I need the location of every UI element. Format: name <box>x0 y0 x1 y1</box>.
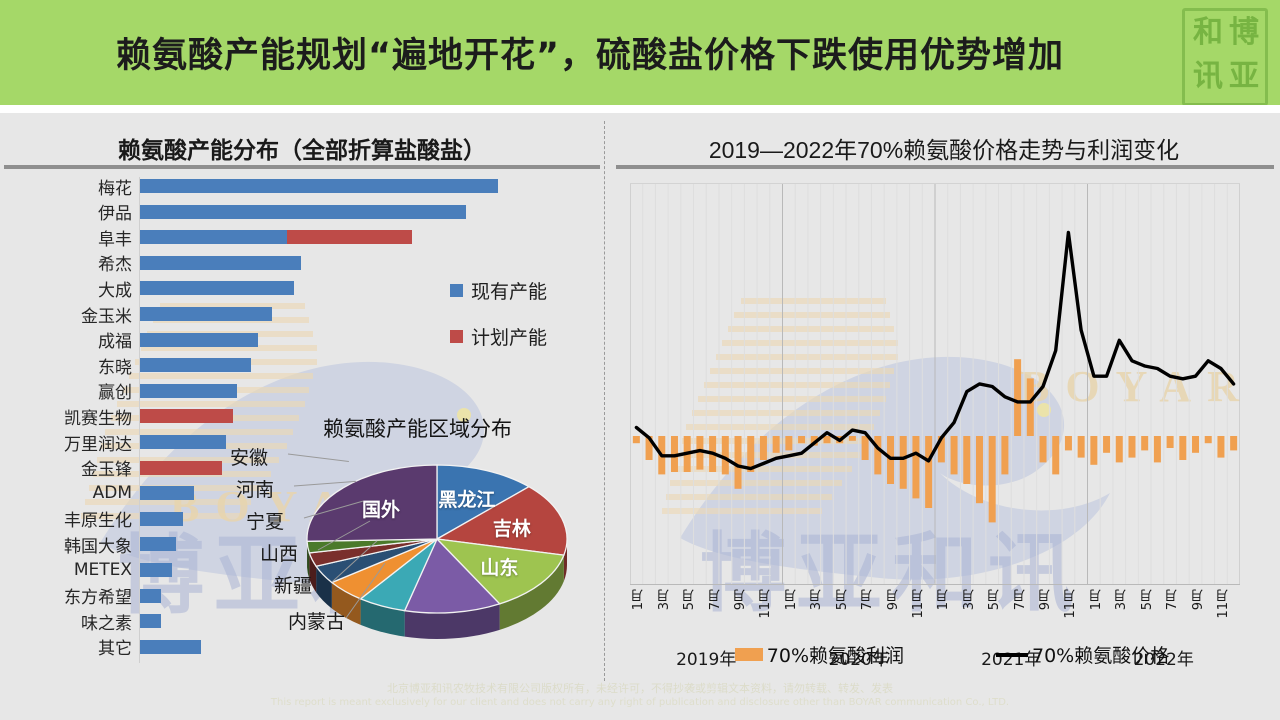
profit-bar[interactable] <box>1128 436 1135 458</box>
bar-category-label: 阜丰 <box>0 224 132 250</box>
bar-category-label: 其它 <box>0 634 132 660</box>
pie-slice-label: 吉林 <box>493 514 531 541</box>
bar-category-label: 东方希望 <box>0 583 132 609</box>
price-profit-graphic <box>630 184 1240 584</box>
x-month-tick: 7月 <box>1011 589 1030 610</box>
profit-bar[interactable] <box>1192 436 1199 453</box>
x-month-tick: 11月 <box>1214 589 1233 619</box>
bar-segment-existing <box>140 358 251 372</box>
bar-category-label: 希杰 <box>0 250 132 276</box>
x-month-tick: 11月 <box>1061 589 1080 619</box>
profit-bar[interactable] <box>1103 436 1110 453</box>
x-month-tick: 5月 <box>833 589 852 610</box>
profit-bar[interactable] <box>823 436 830 443</box>
pie-callout-label: 山西 <box>260 539 298 566</box>
pie-slice-label: 山东 <box>480 553 518 580</box>
x-month-tick: 9月 <box>884 589 903 610</box>
x-month-tick: 9月 <box>1036 589 1055 610</box>
legend-swatch-line <box>996 653 1028 657</box>
page-title: 赖氨酸产能规划“遍地开花”，硫酸盐价格下跌使用优势增加 <box>0 0 1180 105</box>
bar-category-label: 万里润达 <box>0 429 132 455</box>
copyright-footer: 北京博亚和讯农牧技术有限公司版权所有，未经许可，不得抄袭或剪辑文本资料，请勿转载… <box>0 682 1280 710</box>
bar-segment-existing <box>140 307 272 321</box>
legend-item: 70%赖氨酸价格 <box>996 641 1169 668</box>
bar-track <box>140 384 498 398</box>
line-chart-legend: 70%赖氨酸利润70%赖氨酸价格 <box>652 641 1252 668</box>
bar-segment-planned <box>140 461 222 475</box>
bar-track <box>140 256 498 270</box>
profit-bar[interactable] <box>900 436 907 489</box>
profit-bar[interactable] <box>1179 436 1186 460</box>
legend-item: 现有产能 <box>450 277 547 304</box>
bar-segment-existing <box>140 435 226 449</box>
bar-segment-existing <box>140 537 176 551</box>
bar-category-label: 丰原生化 <box>0 506 132 532</box>
pie-callout-label: 安徽 <box>230 443 268 470</box>
bar-category-label: 味之素 <box>0 608 132 634</box>
seal-char-1: 和 <box>1189 11 1225 55</box>
profit-bar[interactable] <box>1090 436 1097 465</box>
profit-bar[interactable] <box>798 436 805 443</box>
pie-slice-label: 黑龙江 <box>438 485 495 512</box>
legend-item: 计划产能 <box>450 323 547 350</box>
bar-segment-existing <box>140 179 498 193</box>
x-month-tick: 7月 <box>858 589 877 610</box>
pie-callout-label: 新疆 <box>274 571 312 598</box>
bar-category-label: 伊品 <box>0 199 132 225</box>
bar-segment-planned <box>287 230 412 244</box>
copyright-cn: 北京博亚和讯农牧技术有限公司版权所有，未经许可，不得抄袭或剪辑文本资料，请勿转载… <box>0 682 1280 696</box>
right-panel-rule <box>616 165 1274 169</box>
legend-label: 现有产能 <box>471 277 547 304</box>
bar-track <box>140 205 498 219</box>
profit-bar[interactable] <box>963 436 970 484</box>
legend-swatch <box>450 284 463 297</box>
bar-category-label: 凯赛生物 <box>0 403 132 429</box>
x-month-tick: 1月 <box>629 589 648 610</box>
bar-segment-existing <box>140 256 301 270</box>
profit-bar[interactable] <box>849 436 856 441</box>
bar-segment-existing <box>140 333 258 347</box>
profit-bar[interactable] <box>951 436 958 474</box>
bar-category-label: METEX <box>0 557 132 583</box>
slide-body: 博亚和讯 BOYAR 博亚和讯 BOYAR 赖氨酸产能分布（全部折算盐酸盐） 2… <box>0 113 1280 720</box>
pie-callout-label: 宁夏 <box>246 507 284 534</box>
x-month-tick: 9月 <box>731 589 750 610</box>
region-pie-chart: 赖氨酸产能区域分布 黑龙江吉林山东国外安徽河南宁夏山西新疆内蒙古 <box>230 413 605 683</box>
bar-segment-existing <box>140 486 194 500</box>
profit-bar[interactable] <box>1230 436 1237 450</box>
bar-category-label: 梅花 <box>0 173 132 199</box>
header-band: 赖氨酸产能规划“遍地开花”，硫酸盐价格下跌使用优势增加 和博讯亚 <box>0 0 1280 105</box>
legend-label: 70%赖氨酸价格 <box>1032 641 1169 668</box>
seal-char-2: 博 <box>1225 11 1261 55</box>
seal-char-3: 讯 <box>1189 55 1225 99</box>
bar-segment-existing <box>140 205 466 219</box>
profit-bar[interactable] <box>1014 359 1021 436</box>
profit-bar[interactable] <box>1078 436 1085 458</box>
bar-category-label: 东晓 <box>0 352 132 378</box>
profit-bar[interactable] <box>1027 378 1034 436</box>
bar-track <box>140 179 498 193</box>
x-month-tick: 11月 <box>909 589 928 619</box>
x-month-tick: 7月 <box>1163 589 1182 610</box>
bar-row: 梅花 <box>0 173 604 199</box>
profit-bar[interactable] <box>1116 436 1123 462</box>
legend-item: 70%赖氨酸利润 <box>735 641 904 668</box>
x-month-tick: 3月 <box>1112 589 1131 610</box>
price-profit-plot <box>630 183 1240 585</box>
bar-row: 赢创 <box>0 378 604 404</box>
x-month-tick: 5月 <box>1138 589 1157 610</box>
profit-bar[interactable] <box>735 436 742 489</box>
pie-callout-label: 内蒙古 <box>288 607 345 634</box>
profit-bar[interactable] <box>633 436 640 443</box>
bar-segment-existing <box>140 230 287 244</box>
left-panel-title: 赖氨酸产能分布（全部折算盐酸盐） <box>0 131 604 165</box>
profit-bar[interactable] <box>722 436 729 474</box>
right-panel-title: 2019—2022年70%赖氨酸价格走势与利润变化 <box>612 131 1276 165</box>
profit-bar[interactable] <box>912 436 919 498</box>
pie-graphic <box>272 439 602 669</box>
profit-bar[interactable] <box>976 436 983 503</box>
bar-category-label: 韩国大象 <box>0 531 132 557</box>
profit-bar[interactable] <box>1217 436 1224 458</box>
bar-track <box>140 230 498 244</box>
left-panel-rule <box>4 165 600 169</box>
bar-segment-existing <box>140 640 201 654</box>
profit-bar[interactable] <box>1001 436 1008 474</box>
bar-segment-existing <box>140 614 161 628</box>
profit-bar[interactable] <box>1052 436 1059 474</box>
copyright-en: This report is meant exclusively for our… <box>0 696 1280 710</box>
bar-category-label: 大成 <box>0 275 132 301</box>
seal-char-4: 亚 <box>1225 55 1261 99</box>
bar-segment-existing <box>140 281 294 295</box>
x-month-tick: 1月 <box>1087 589 1106 610</box>
bar-chart-legend: 现有产能计划产能 <box>450 277 547 369</box>
bar-row: 伊品 <box>0 199 604 225</box>
x-month-tick: 5月 <box>680 589 699 610</box>
x-month-tick: 5月 <box>985 589 1004 610</box>
bar-segment-existing <box>140 512 183 526</box>
profit-bar[interactable] <box>1065 436 1072 450</box>
profit-bar[interactable] <box>1205 436 1212 443</box>
bar-category-label: ADM <box>0 480 132 506</box>
legend-swatch-bar <box>735 648 763 661</box>
x-month-tick: 3月 <box>807 589 826 610</box>
bar-segment-existing <box>140 563 172 577</box>
bar-category-label: 赢创 <box>0 378 132 404</box>
bar-row: 希杰 <box>0 250 604 276</box>
bar-row: 阜丰 <box>0 224 604 250</box>
profit-bar[interactable] <box>773 436 780 453</box>
profit-bar[interactable] <box>925 436 932 508</box>
bar-category-label: 金玉米 <box>0 301 132 327</box>
profit-bar[interactable] <box>1141 436 1148 450</box>
x-month-tick: 3月 <box>960 589 979 610</box>
bar-segment-planned <box>140 409 233 423</box>
profit-bar[interactable] <box>874 436 881 474</box>
x-month-tick: 3月 <box>655 589 674 610</box>
price-profit-chart: 1月3月5月7月9月11月1月3月5月7月9月11月1月3月5月7月9月11月1… <box>612 171 1280 673</box>
profit-bar[interactable] <box>862 436 869 460</box>
bar-category-label: 金玉锋 <box>0 455 132 481</box>
bar-category-label: 成福 <box>0 327 132 353</box>
legend-swatch <box>450 330 463 343</box>
profit-bar[interactable] <box>785 436 792 450</box>
bar-track <box>140 281 498 295</box>
profit-bar[interactable] <box>1040 436 1047 462</box>
header-divider <box>0 105 1280 113</box>
x-month-tick: 11月 <box>756 589 775 619</box>
bar-track <box>140 333 498 347</box>
bar-track <box>140 307 498 321</box>
bar-track <box>140 358 498 372</box>
pie-callout-label: 河南 <box>236 475 274 502</box>
profit-bar[interactable] <box>1154 436 1161 462</box>
bar-segment-existing <box>140 384 237 398</box>
profit-bar[interactable] <box>1167 436 1174 448</box>
x-month-tick: 1月 <box>782 589 801 610</box>
pie-slice-label: 国外 <box>362 495 400 522</box>
profit-bar[interactable] <box>989 436 996 522</box>
x-month-tick: 9月 <box>1189 589 1208 610</box>
x-month-tick: 7月 <box>706 589 725 610</box>
x-month-tick: 1月 <box>934 589 953 610</box>
profit-bar[interactable] <box>760 436 767 460</box>
pie-leader-line <box>288 454 349 461</box>
legend-label: 70%赖氨酸利润 <box>767 641 904 668</box>
company-seal-stamp: 和博讯亚 <box>1182 8 1268 106</box>
bar-segment-existing <box>140 589 161 603</box>
legend-label: 计划产能 <box>471 323 547 350</box>
